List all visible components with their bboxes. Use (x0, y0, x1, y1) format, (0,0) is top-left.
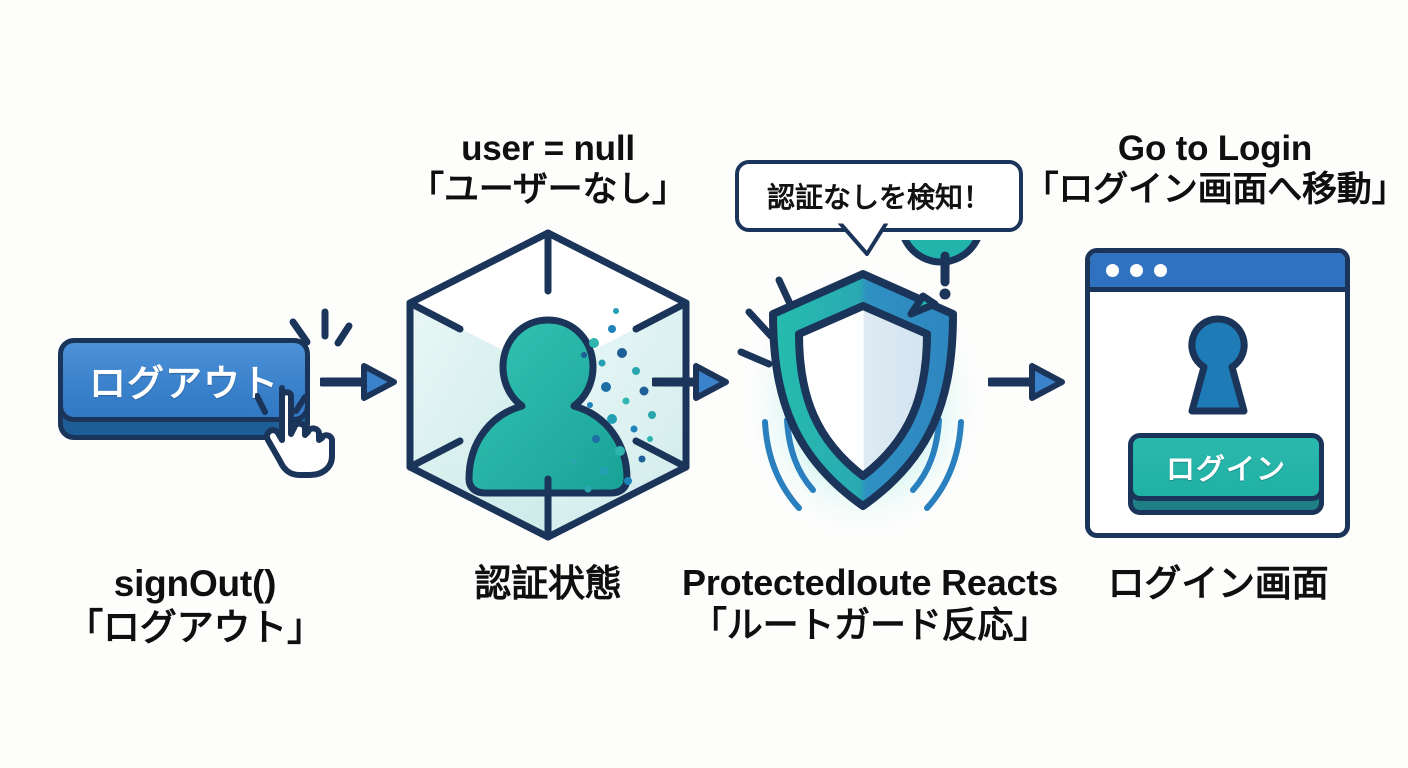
logout-button-label: ログアウト (89, 353, 279, 407)
window-dot-icon[interactable] (1106, 264, 1119, 277)
flow-arrow-3 (988, 362, 1068, 402)
flow-arrow-1 (320, 362, 400, 402)
caption-line1: signOut() (30, 562, 360, 606)
top-label-line2: 「ユーザーなし」 (338, 169, 758, 210)
stage-top-label-auth-state: user = null 「ユーザーなし」 (338, 128, 758, 211)
stage-top-label-login-screen: Go to Login 「ログイン画面へ移動」 (1022, 128, 1408, 211)
stage-caption-protected-route: ProtectedIoute Reacts 「ルートガード反応」 (660, 562, 1080, 647)
login-button[interactable]: ログイン (1128, 433, 1324, 501)
browser-title-bar (1090, 253, 1345, 292)
top-label-line2: 「ログイン画面へ移動」 (1022, 169, 1408, 210)
window-dot-icon[interactable] (1154, 264, 1167, 277)
caption-line1: 認証状態 (398, 562, 698, 606)
stage-caption-auth-state: 認証状態 (398, 562, 698, 606)
speech-bubble-text: 認証なしを検知！ (767, 176, 991, 216)
caption-line2: 「ルートガード反応」 (660, 604, 1080, 646)
top-label-line1: user = null (338, 128, 758, 169)
detection-speech-bubble: 認証なしを検知！ (735, 160, 1025, 240)
keyhole-icon (1174, 313, 1262, 421)
flow-arrow-2 (652, 362, 732, 402)
cube-icon (410, 233, 686, 537)
login-screen-window[interactable]: ログイン (1085, 248, 1350, 538)
diagram-canvas: user = null 「ユーザーなし」 Go to Login 「ログイン画面… (0, 0, 1408, 768)
top-label-line1: Go to Login (1022, 128, 1408, 169)
caption-line1: ProtectedIoute Reacts (660, 562, 1080, 604)
caption-line1: ログイン画面 (1068, 562, 1368, 606)
window-dot-icon[interactable] (1130, 264, 1143, 277)
caption-line2: 「ログアウト」 (30, 606, 360, 650)
stage-caption-login-screen: ログイン画面 (1068, 562, 1368, 606)
stage-caption-signout: signOut() 「ログアウト」 (30, 562, 360, 649)
login-button-label: ログイン (1166, 446, 1286, 488)
browser-window-icon: ログイン (1085, 248, 1350, 538)
